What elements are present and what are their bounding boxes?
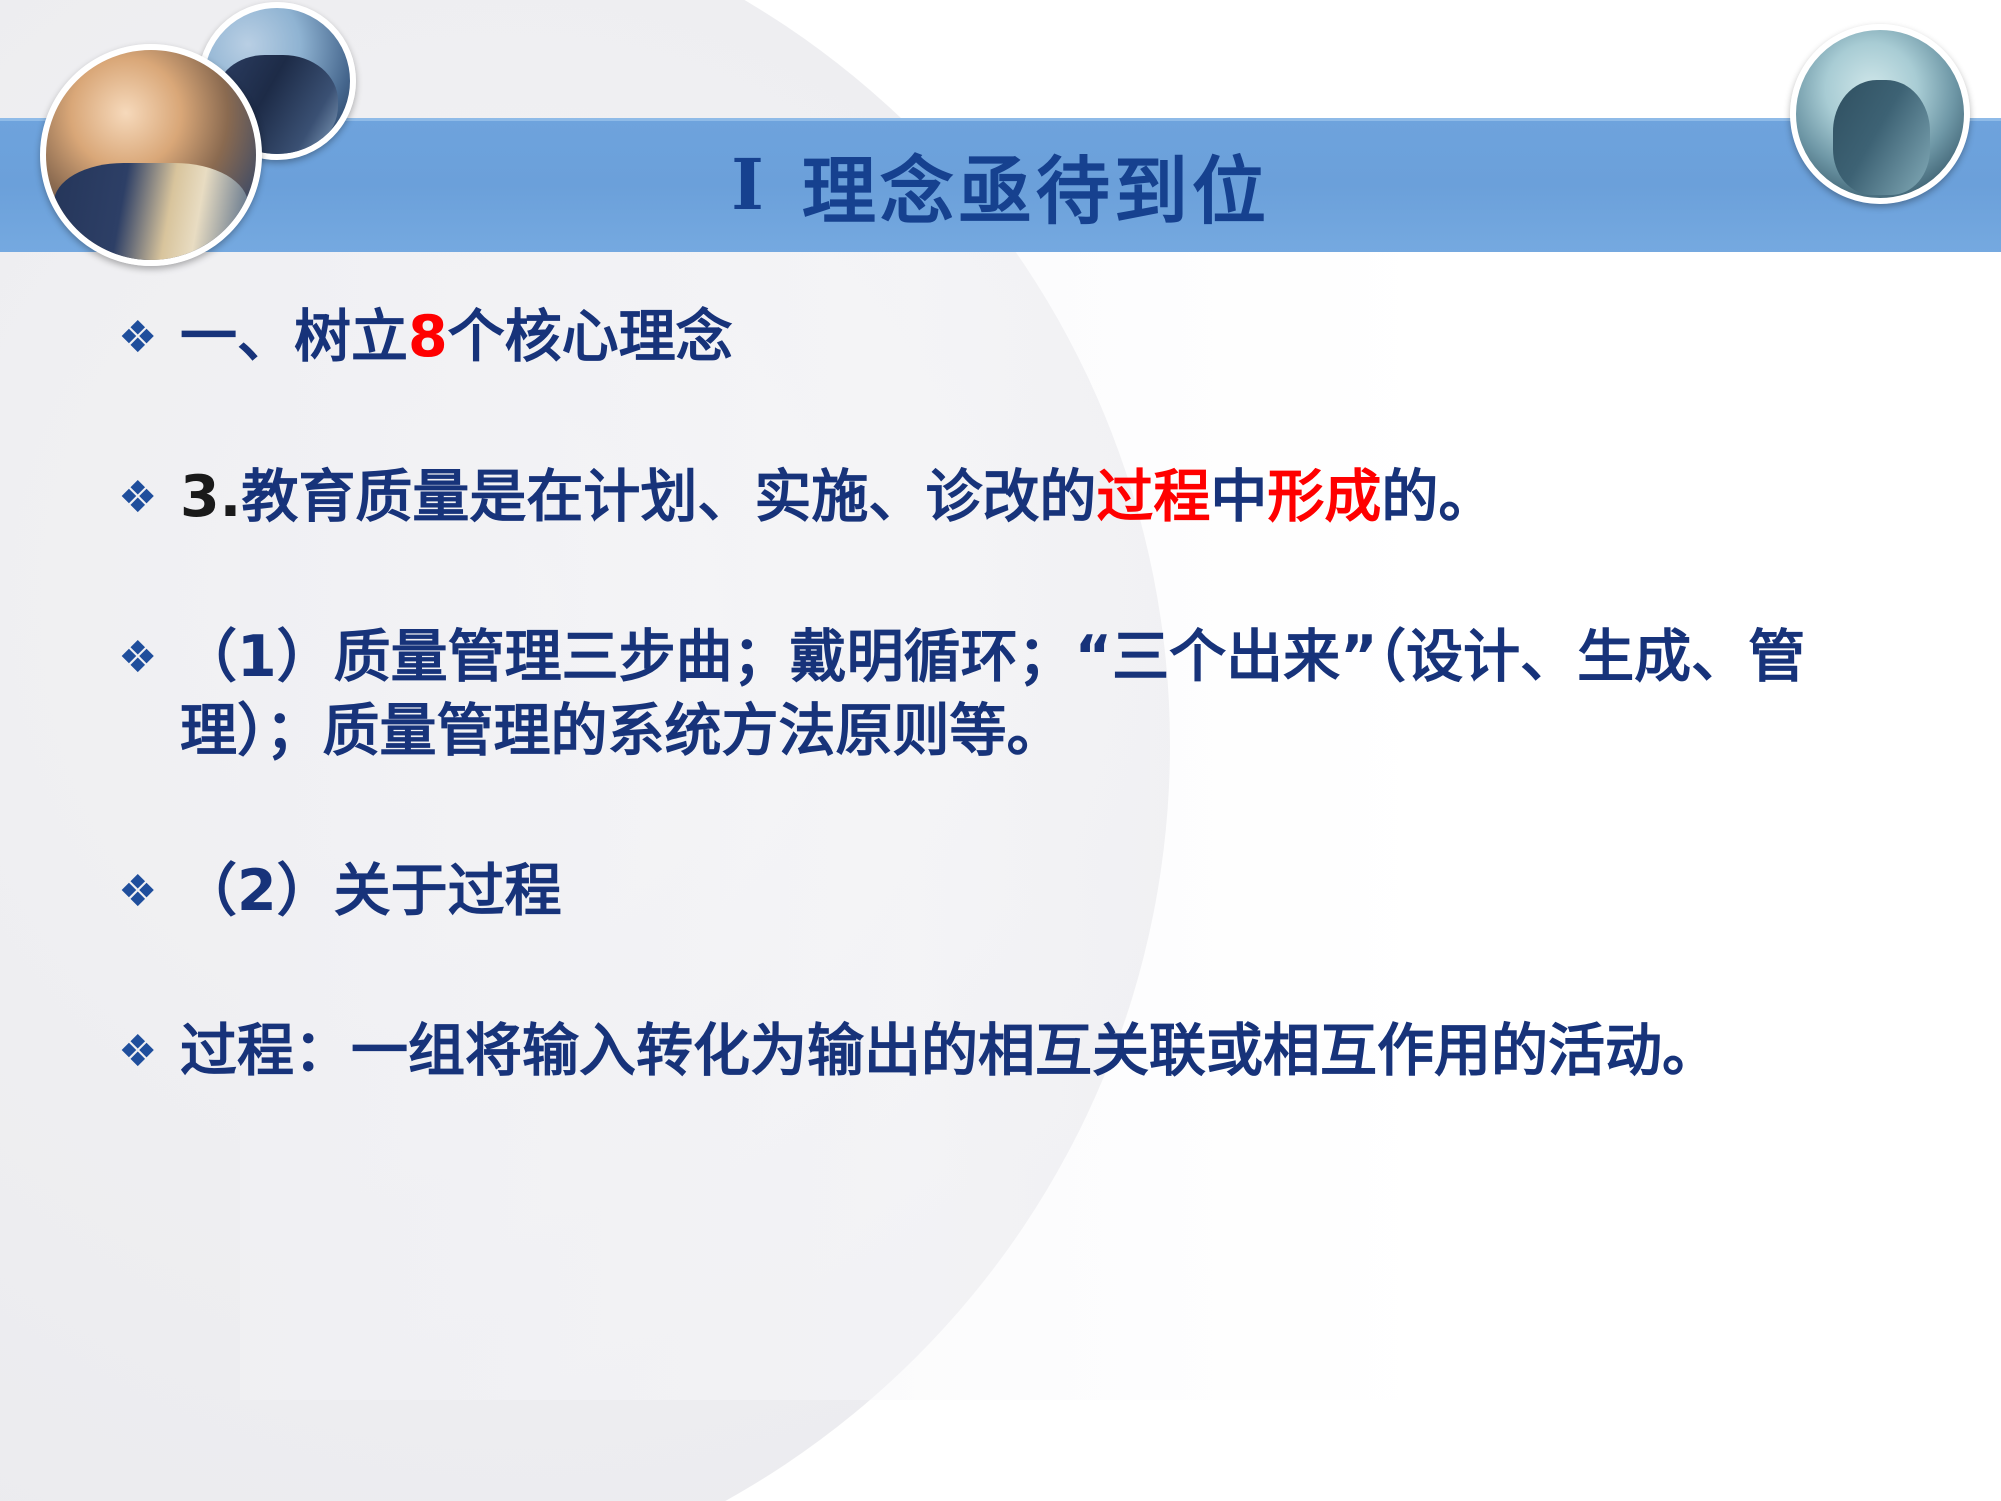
text-segment: 一、树立 <box>180 304 408 370</box>
slide-body: ❖ 一、树立8个核心理念 ❖ 3.教育质量是在计划、实施、诊改的过程中形成的。 … <box>0 300 2001 1089</box>
bullet-text-1: 一、树立8个核心理念 <box>180 300 1941 374</box>
text-segment: 教育质量是在计划、实施、诊改的 <box>241 464 1096 530</box>
bullet-diamond-icon: ❖ <box>118 636 172 680</box>
text-segment: 8 <box>408 304 448 370</box>
photo-circle-team-computer <box>40 44 262 266</box>
title-numeral: Ⅰ <box>731 143 768 227</box>
title-label: 理念亟待到位 <box>802 132 1270 239</box>
bullet-item-3: ❖ （1）质量管理三步曲；戴明循环；“三个出来”（设计、生成、管理）；质量管理的… <box>0 620 2001 768</box>
bullet-diamond-icon: ❖ <box>118 1030 172 1074</box>
bullet-diamond-icon: ❖ <box>118 476 172 520</box>
bullet-item-4: ❖ （2）关于过程 <box>0 854 2001 928</box>
bullet-text-3: （1）质量管理三步曲；戴明循环；“三个出来”（设计、生成、管理）；质量管理的系统… <box>180 620 1941 768</box>
text-segment: （1）质量管理三步曲；戴明循环；“三个出来”（设计、生成、管理）；质量管理的系统… <box>180 624 1805 764</box>
text-segment: 中 <box>1210 464 1267 530</box>
bullet-item-2: ❖ 3.教育质量是在计划、实施、诊改的过程中形成的。 <box>0 460 2001 534</box>
photo-circle-presenter <box>1790 24 1970 204</box>
bullet-diamond-icon: ❖ <box>118 870 172 914</box>
text-segment: 个核心理念 <box>448 304 733 370</box>
text-segment: 过程 <box>1096 464 1210 530</box>
bullet-item-5: ❖ 过程：一组将输入转化为输出的相互关联或相互作用的活动。 <box>0 1014 2001 1088</box>
text-segment: 3. <box>180 464 241 530</box>
bullet-item-1: ❖ 一、树立8个核心理念 <box>0 300 2001 374</box>
bullet-text-4: （2）关于过程 <box>180 854 1941 928</box>
bullet-diamond-icon: ❖ <box>118 316 172 360</box>
text-segment: 过程：一组将输入转化为输出的相互关联或相互作用的活动。 <box>180 1018 1719 1084</box>
text-segment: 的。 <box>1381 464 1495 530</box>
text-segment: （2）关于过程 <box>180 858 562 924</box>
bullet-text-2: 3.教育质量是在计划、实施、诊改的过程中形成的。 <box>180 460 1941 534</box>
bullet-text-5: 过程：一组将输入转化为输出的相互关联或相互作用的活动。 <box>180 1014 1941 1088</box>
slide-canvas: Ⅰ 理念亟待到位 ❖ 一、树立8个核心理念 ❖ 3.教育质量是在计划、实施、诊改… <box>0 0 2001 1501</box>
text-segment: 形成 <box>1267 464 1381 530</box>
